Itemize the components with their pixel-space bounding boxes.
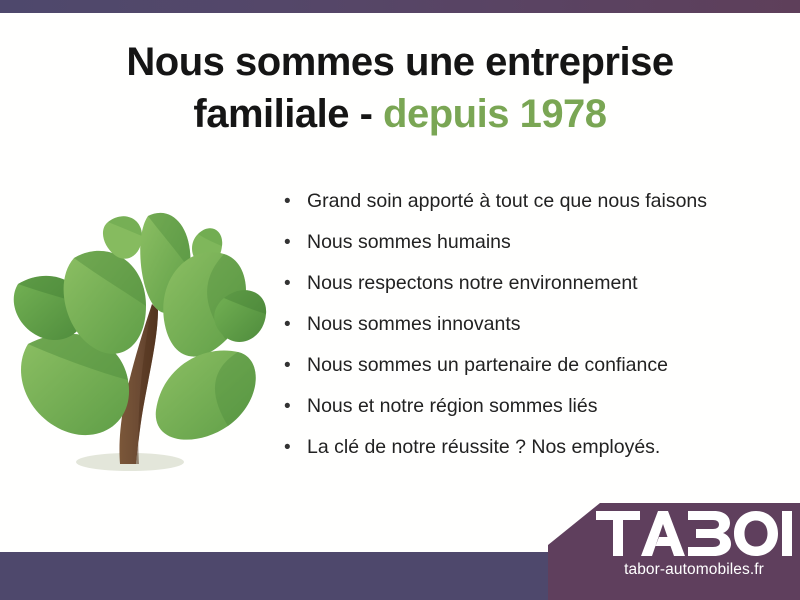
value-bullet-list: • Grand soin apporté à tout ce que nous … (284, 190, 764, 477)
bullet-marker-icon: • (284, 436, 307, 459)
list-item: • Nous sommes humains (284, 231, 764, 272)
list-item: • Nous respectons notre environnement (284, 272, 764, 313)
top-decorative-bar (0, 0, 800, 13)
tabor-wordmark-logo (596, 511, 792, 556)
headline-line-1: Nous sommes une entreprise (126, 40, 673, 84)
list-item-label: Grand soin apporté à tout ce que nous fa… (307, 190, 707, 213)
bullet-marker-icon: • (284, 354, 307, 377)
list-item-label: Nous sommes innovants (307, 313, 521, 336)
list-item: • La clé de notre réussite ? Nos employé… (284, 436, 764, 477)
bullet-marker-icon: • (284, 313, 307, 336)
leaf-right-lower (156, 350, 256, 439)
bullet-marker-icon: • (284, 190, 307, 213)
bullet-marker-icon: • (284, 231, 307, 254)
list-item-label: Nous respectons notre environnement (307, 272, 638, 295)
list-item: • Grand soin apporté à tout ce que nous … (284, 190, 764, 231)
list-item: • Nous sommes un partenaire de confiance (284, 354, 764, 395)
slide-canvas: Nous sommes une entreprise familiale - d… (0, 0, 800, 600)
list-item-label: Nous et notre région sommes liés (307, 395, 597, 418)
page-title: Nous sommes une entreprise familiale - d… (60, 36, 740, 140)
list-item-label: La clé de notre réussite ? Nos employés. (307, 436, 660, 459)
bullet-marker-icon: • (284, 272, 307, 295)
list-item: • Nous sommes innovants (284, 313, 764, 354)
headline-line-2-plain: familiale - (193, 92, 383, 136)
list-item: • Nous et notre région sommes liés (284, 395, 764, 436)
headline-accent-since-year: depuis 1978 (383, 92, 607, 136)
list-item-label: Nous sommes un partenaire de confiance (307, 354, 668, 377)
logo-tagline: tabor-automobiles.fr (596, 561, 792, 579)
bullet-marker-icon: • (284, 395, 307, 418)
list-item-label: Nous sommes humains (307, 231, 511, 254)
tree-illustration (12, 188, 270, 480)
